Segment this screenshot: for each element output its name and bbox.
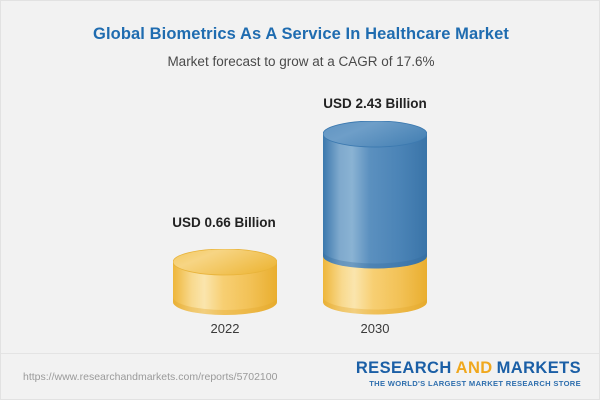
cylinder-2022-svg [173, 249, 277, 315]
logo-word-research: RESEARCH [356, 359, 452, 377]
value-label-2022: USD 0.66 Billion [114, 215, 334, 230]
footer-divider [1, 353, 600, 354]
infographic-chart-card: Global Biometrics As A Service In Health… [0, 0, 600, 400]
logo-word-markets: MARKETS [497, 359, 581, 377]
chart-plot-area: USD 0.66 Billion [1, 1, 600, 353]
cylinder-2030 [323, 121, 427, 315]
report-url[interactable]: https://www.researchandmarkets.com/repor… [23, 371, 277, 383]
research-and-markets-logo[interactable]: RESEARCHANDMARKETS THE WORLD'S LARGEST M… [356, 360, 581, 388]
cylinder-2022 [173, 249, 277, 315]
logo-tagline: THE WORLD'S LARGEST MARKET RESEARCH STOR… [356, 379, 581, 388]
category-label-2030: 2030 [275, 321, 475, 336]
logo-word-and: AND [456, 359, 493, 377]
cylinder-2030-svg [323, 121, 427, 315]
logo-wordmark: RESEARCHANDMARKETS [356, 360, 581, 377]
value-label-2030: USD 2.43 Billion [265, 96, 485, 111]
